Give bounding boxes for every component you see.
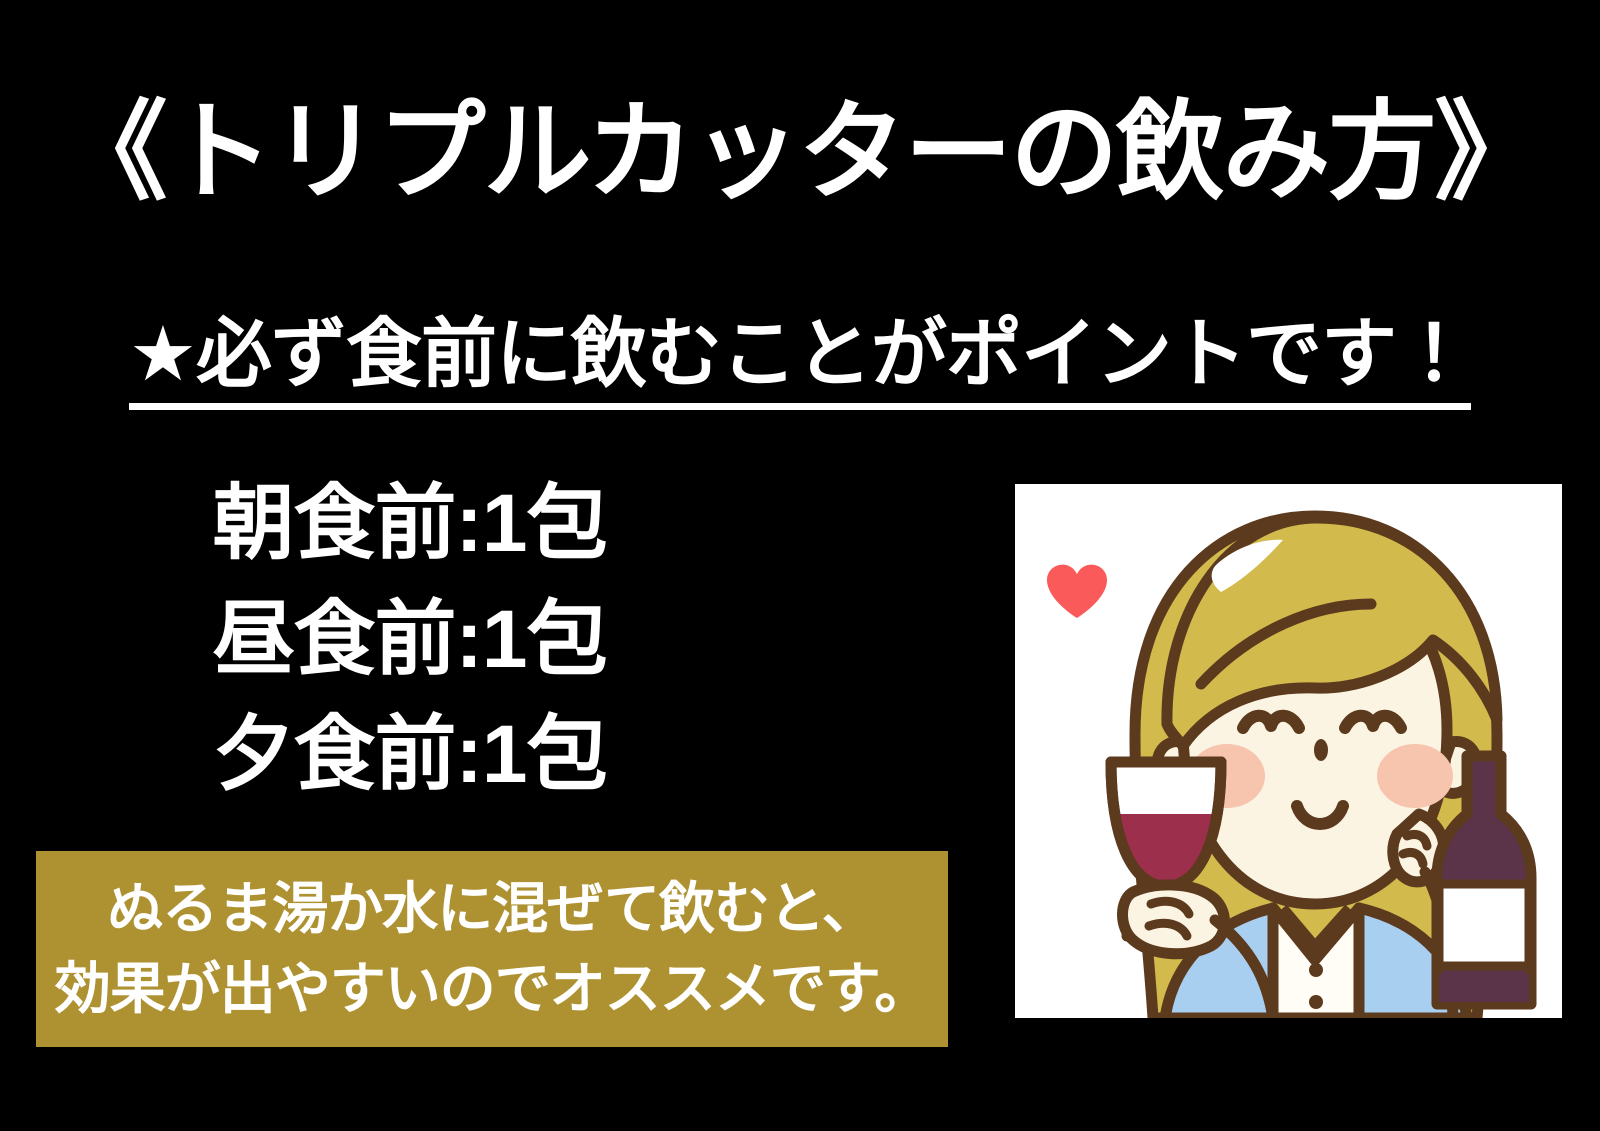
blush-right (1377, 744, 1453, 808)
page-title: 《トリプルカッターの飲み方》 (0, 92, 1600, 213)
heart-icon (1047, 565, 1107, 618)
subtitle-container: ★必ず食前に飲むことがポイントです！ (0, 312, 1600, 410)
dosage-item-dinner: 夕食前:1包 (60, 697, 760, 813)
woman-illustration (1015, 484, 1562, 1018)
nose (1314, 739, 1328, 761)
note-line-2: 効果が出やすいのでオススメです。 (55, 949, 929, 1029)
note-box: ぬるま湯か水に混ぜて飲むと、 効果が出やすいのでオススメです。 (36, 851, 948, 1047)
subtitle-text: ★必ず食前に飲むことがポイントです！ (129, 312, 1471, 410)
dosage-list: 朝食前:1包 昼食前:1包 夕食前:1包 (60, 466, 760, 813)
illustration-panel (1015, 484, 1562, 1018)
dosage-item-lunch: 昼食前:1包 (60, 582, 760, 698)
poster-canvas: 《トリプルカッターの飲み方》 ★必ず食前に飲むことがポイントです！ 朝食前:1包… (0, 0, 1600, 1131)
dosage-item-breakfast: 朝食前:1包 (60, 466, 760, 582)
note-line-1: ぬるま湯か水に混ぜて飲むと、 (107, 869, 876, 949)
